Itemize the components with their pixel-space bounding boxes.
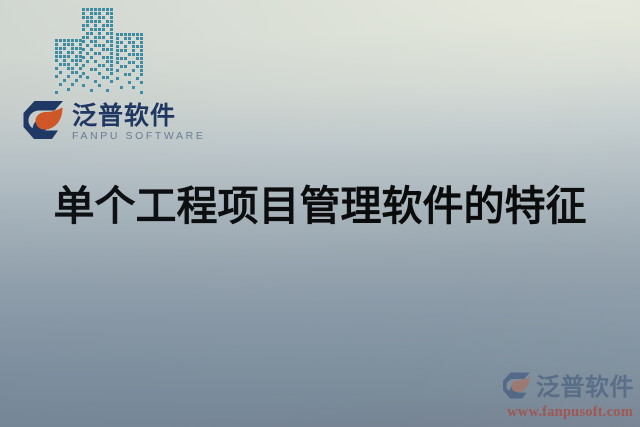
brand-text-block: 泛普软件 FANPU SOFTWARE	[72, 103, 205, 143]
right-tower-pixels	[116, 33, 143, 94]
cityscape-pixels	[55, 8, 143, 94]
fanpu-logo-icon	[22, 99, 66, 146]
brand-name-en: FANPU SOFTWARE	[72, 130, 205, 143]
watermark-logo-row: 泛普软件	[482, 371, 634, 405]
watermark-name-cn: 泛普软件	[536, 375, 634, 401]
page-title: 单个工程项目管理软件的特征	[0, 181, 640, 231]
fanpu-watermark-logo-icon	[502, 371, 532, 405]
center-tower-pixels	[82, 8, 113, 92]
pixel-cityscape-graphic	[52, 5, 147, 95]
left-tower-pixels	[55, 39, 82, 94]
watermark-url: www.fanpusoft.com	[482, 404, 634, 421]
brand-name-cn: 泛普软件	[72, 103, 205, 129]
watermark: 泛普软件 www.fanpusoft.com	[482, 371, 634, 421]
brand-logo: 泛普软件 FANPU SOFTWARE	[22, 99, 205, 146]
slide-canvas: 泛普软件 FANPU SOFTWARE 单个工程项目管理软件的特征 泛普软件 w…	[0, 0, 640, 427]
